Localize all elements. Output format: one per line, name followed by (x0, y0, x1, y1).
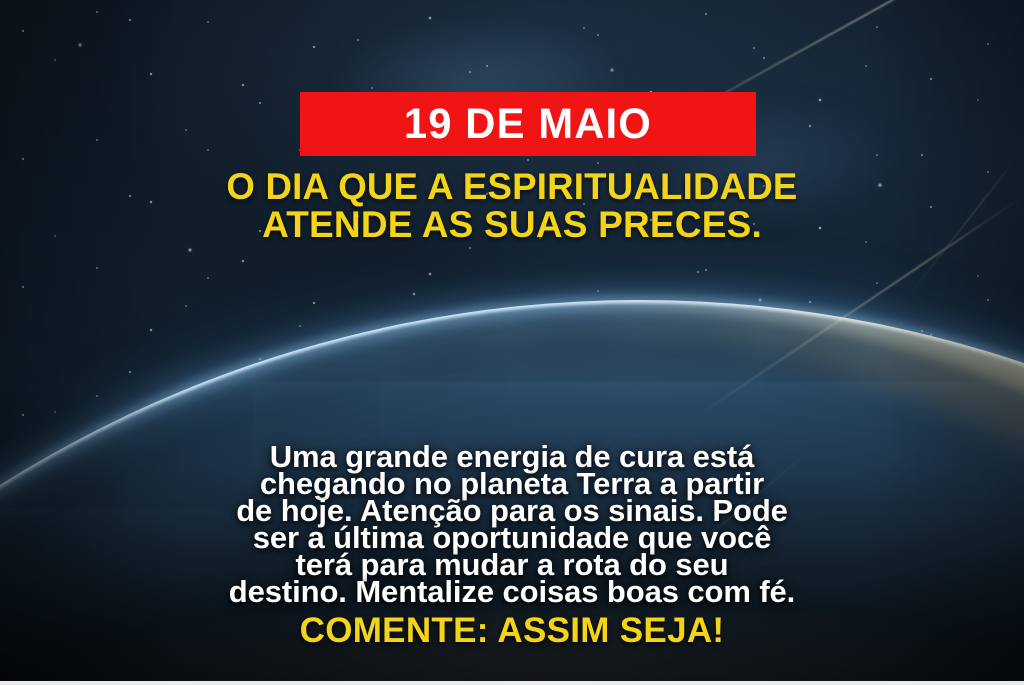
headline: O DIA QUE A ESPIRITUALIDADE ATENDE AS SU… (0, 168, 1024, 244)
date-banner: 19 DE MAIO (300, 92, 756, 156)
body-copy: Uma grande energia de cura está chegando… (0, 443, 1024, 605)
poster-content: 19 DE MAIO O DIA QUE A ESPIRITUALIDADE A… (0, 0, 1024, 685)
headline-line-1: O DIA QUE A ESPIRITUALIDADE (5, 168, 1019, 206)
date-banner-label: 19 DE MAIO (404, 103, 652, 146)
call-to-action-text: COMENTE: ASSIM SEJA! (0, 612, 1024, 650)
body-copy-line: destino. Mentalize coisas boas com fé. (0, 578, 1024, 605)
bottom-edge-strip (0, 681, 1024, 685)
headline-line-2: ATENDE AS SUAS PRECES. (0, 206, 1024, 244)
poster-canvas: 19 DE MAIO O DIA QUE A ESPIRITUALIDADE A… (0, 0, 1024, 685)
